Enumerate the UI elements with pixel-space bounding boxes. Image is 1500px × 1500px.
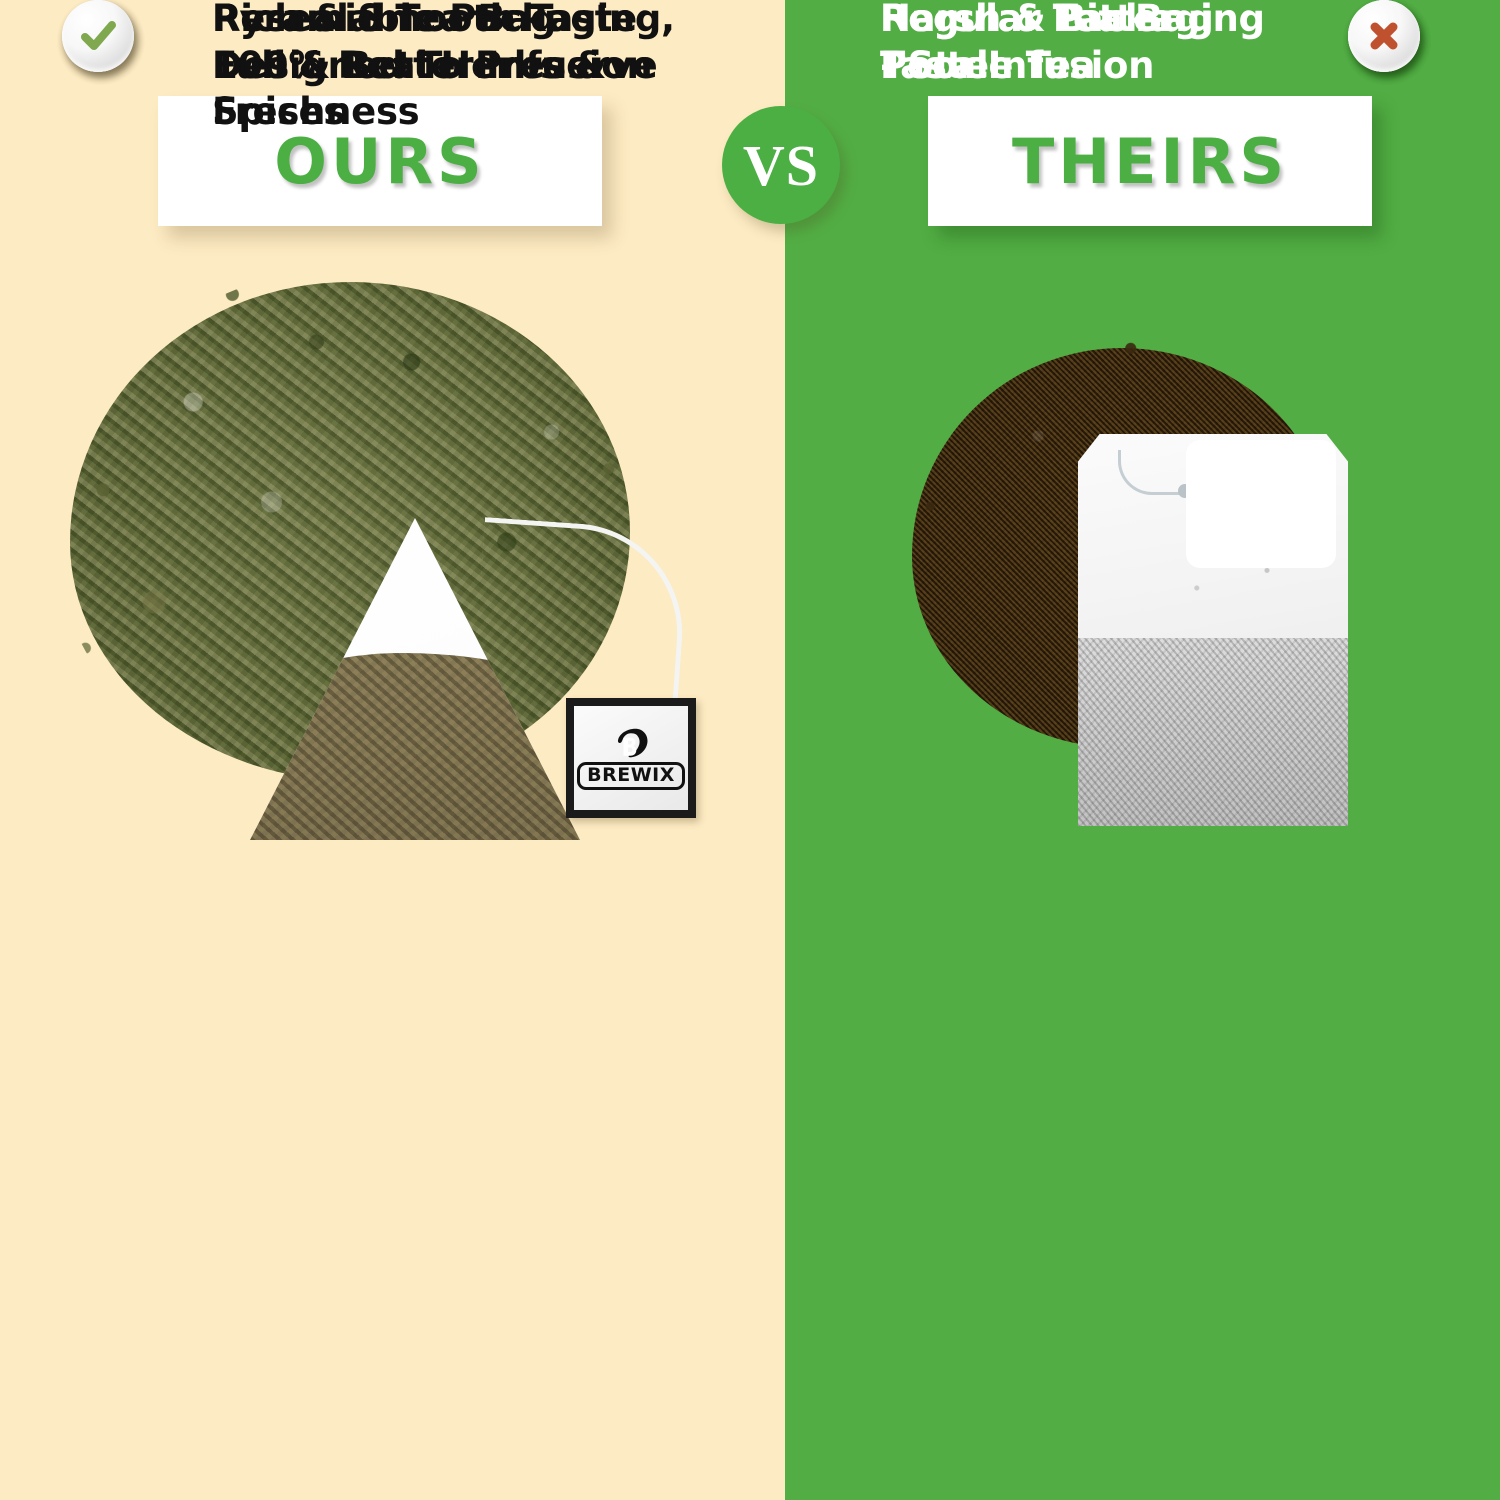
theirs-header-card: THEIRS [928, 96, 1372, 226]
vs-badge: VS [722, 106, 840, 224]
brewix-leaf-b-icon [613, 727, 649, 759]
brewix-wordmark: BREWIX [577, 762, 685, 790]
feature-text: Resealable Packaging, Designed To Preser… [212, 0, 675, 136]
vs-label: VS [743, 132, 819, 199]
cross-glyph [1362, 14, 1406, 58]
feature-text: Regular Packaging - Stale Tea [880, 0, 1265, 89]
comparison-infographic: OURS VS THEIRS BREWIX [0, 0, 1500, 1500]
bag-lower-dust-fill [1078, 638, 1348, 826]
feature-row-theirs-3: Regular Packaging - Stale Tea [880, 0, 1420, 89]
feature-row-ours-3: Resealable Packaging, Designed To Preser… [62, 0, 722, 136]
flat-bag-blank-tag [1186, 440, 1336, 568]
check-glyph [76, 14, 120, 58]
cross-icon [1348, 0, 1420, 72]
brewix-brand-tag: BREWIX [566, 698, 696, 818]
theirs-title: THEIRS [1012, 125, 1288, 198]
pyramid-tea-bag-image: BREWIX [250, 518, 670, 840]
check-icon [62, 0, 134, 72]
